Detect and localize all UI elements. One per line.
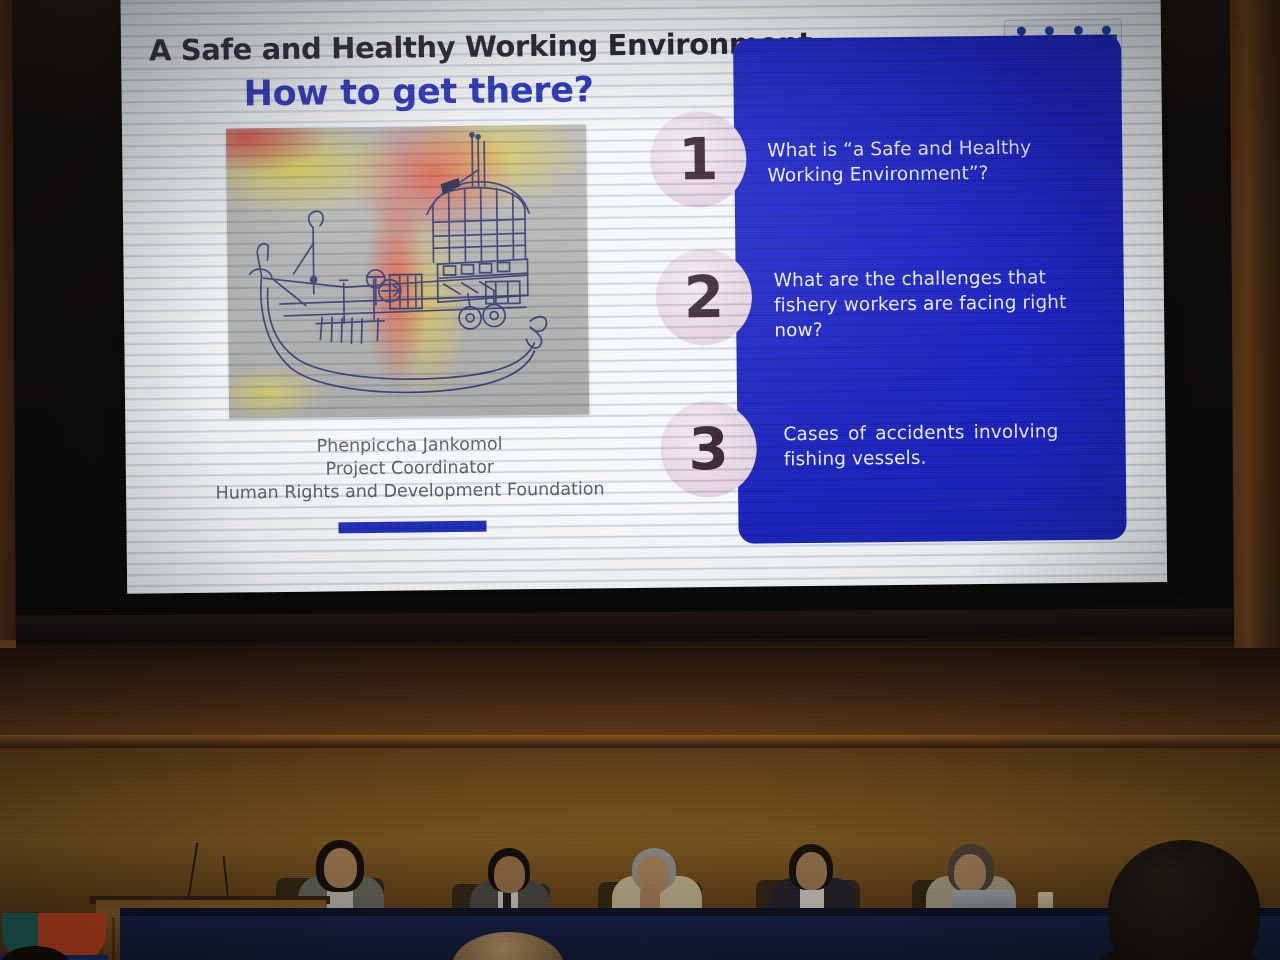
agenda-number-1: 1 [650,111,747,208]
agenda-item-2-text: What are the challenges that fishery wor… [774,265,1085,344]
presenter-credits: Phenpiccha Jankomol Project Coordinator … [189,432,630,506]
presenter-organization: Human Rights and Development Foundation [190,478,630,506]
agenda-item-3-text: Cases of accidents involving fishing ves… [783,419,1059,472]
slide-subtitle: How to get there? [243,70,594,114]
panelist-head [796,852,827,890]
panelist-head [494,856,525,893]
agenda-item-1-text: What is “a Safe and Healthy Working Envi… [767,135,1093,189]
panelist-head [324,848,357,888]
boat-line-drawing [226,125,589,419]
credits-accent-bar [338,521,486,534]
panelist-head [954,854,986,892]
slide-title: A Safe and Healthy Working Environment [149,27,749,68]
projection-screen-frame: A Safe and Healthy Working Environment H… [12,0,1234,651]
screenshot-root: A Safe and Healthy Working Environment H… [0,0,1280,960]
presentation-slide: A Safe and Healthy Working Environment H… [120,0,1167,594]
fishing-boat-sketch-image [226,125,589,419]
wall-molding [0,735,1280,749]
